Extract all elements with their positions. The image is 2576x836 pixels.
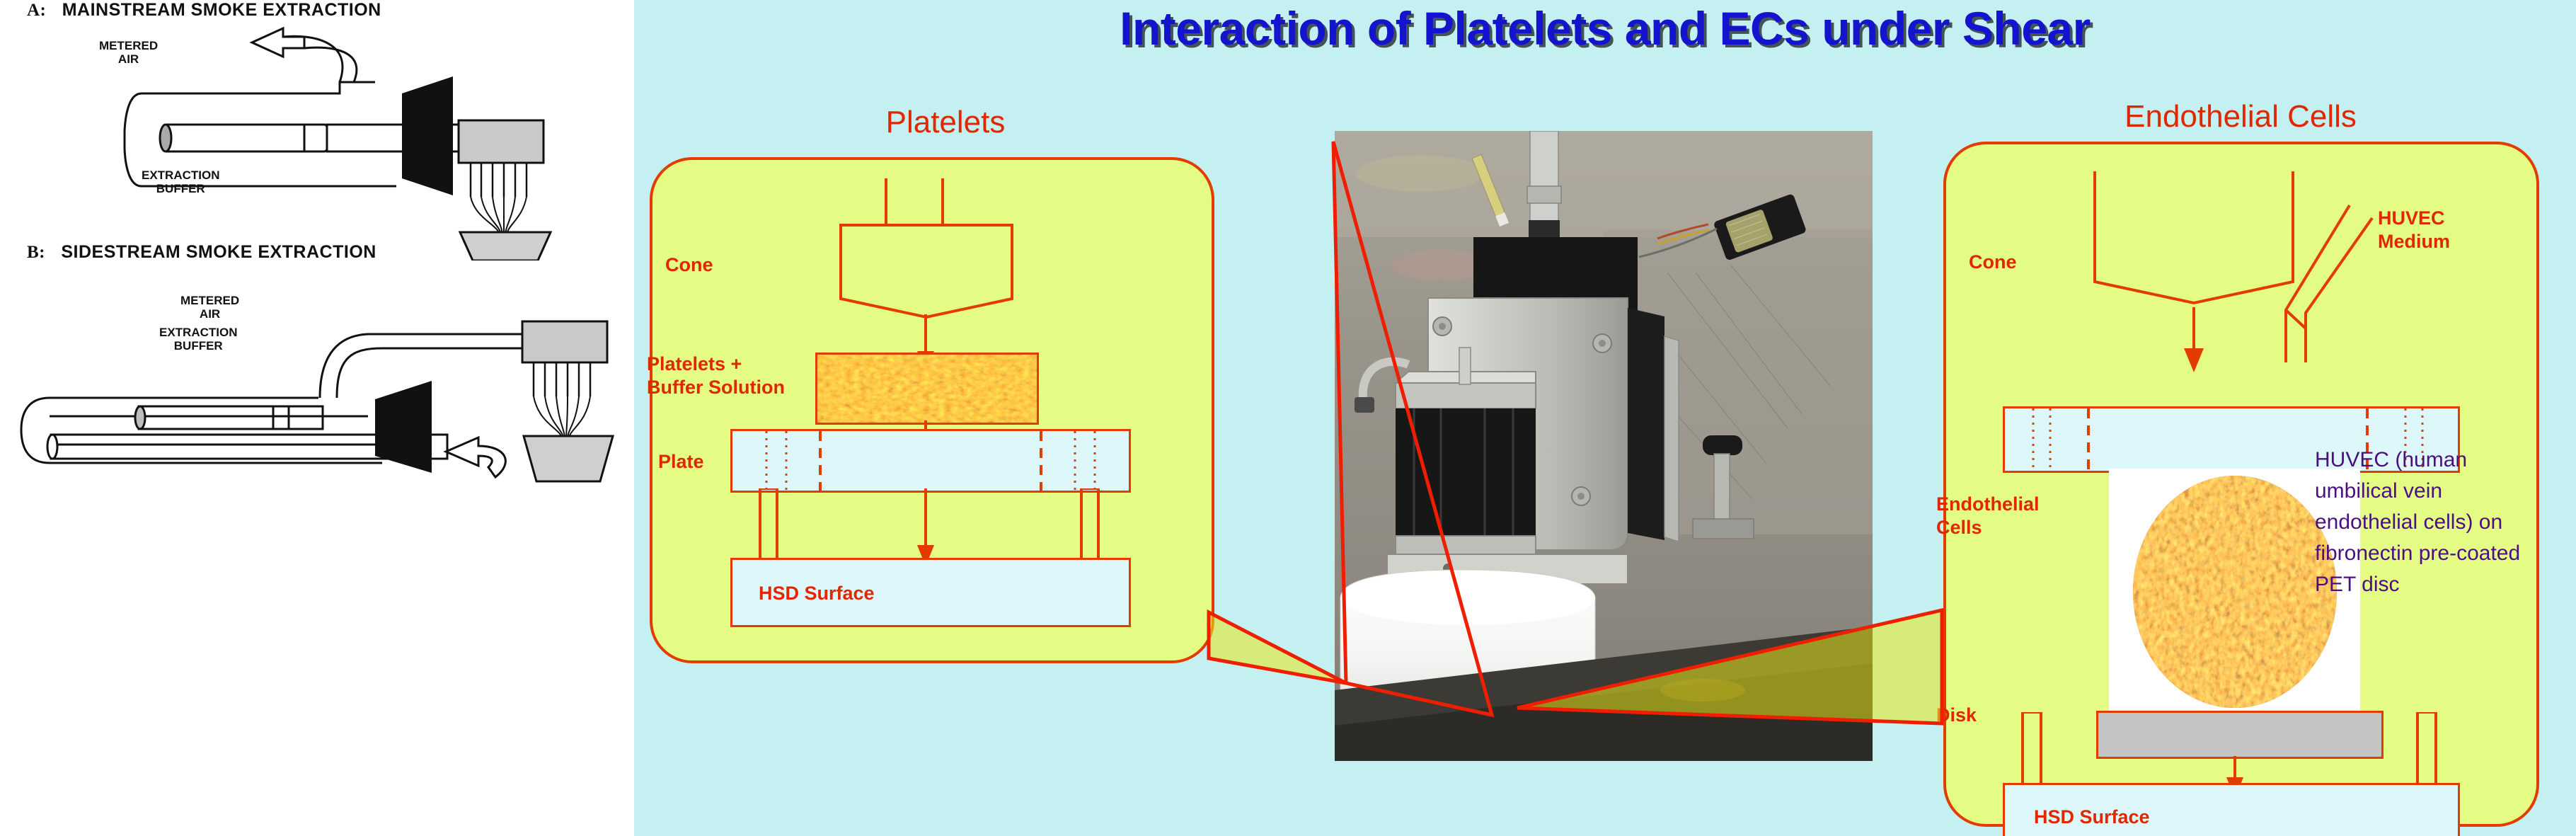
page-title: Interaction of Platelets and ECs under S…: [634, 1, 2576, 55]
cone-shape-ec: [2052, 171, 2392, 405]
figure-a-title: MAINSTREAM SMOKE EXTRACTION: [62, 0, 381, 20]
figure-a-caption: A: MAINSTREAM SMOKE EXTRACTION: [27, 0, 381, 21]
platelets-heading: Platelets: [634, 105, 1257, 140]
extraction-buffer-label-b: EXTRACTION BUFFER: [159, 326, 238, 353]
ec-heading: Endothelial Cells: [1929, 99, 2552, 134]
left-figure-panel: A: MAINSTREAM SMOKE EXTRACTION: [0, 0, 634, 836]
cone-shape-platelets: [808, 178, 1042, 320]
figure-b-caption: B: SIDESTREAM SMOKE EXTRACTION: [27, 242, 376, 263]
platelets-cone-label: Cone: [665, 253, 713, 277]
ec-cells-label: Endothelial Cells: [1936, 493, 2040, 539]
plate-legs-platelets: [730, 488, 1127, 566]
hsd-surface-label-platelets: HSD Surface: [759, 582, 875, 605]
platelets-solution-label: Platelets + Buffer Solution: [647, 353, 785, 399]
metered-air-label-b: METERED AIR: [180, 294, 239, 321]
mainstream-extraction-diagram: [0, 20, 634, 260]
shear-apparatus-photo: [1335, 131, 1873, 761]
figure-a-letter: A:: [27, 1, 46, 20]
extraction-buffer-label-a: EXTRACTION BUFFER: [142, 168, 220, 195]
plate-box: [730, 429, 1131, 493]
callout-triangle-left: [1209, 612, 1346, 683]
figure-b-letter: B:: [27, 243, 45, 262]
hsd-surface-label-ec: HSD Surface: [2034, 806, 2150, 829]
platelets-plate-label: Plate: [658, 450, 704, 474]
metered-air-label-a: METERED AIR: [99, 39, 158, 66]
main-slide: Interaction of Platelets and ECs under S…: [634, 0, 2576, 836]
sidestream-extraction-diagram: [0, 277, 634, 554]
ec-cone-label: Cone: [1969, 251, 2017, 274]
platelet-micrograph: [815, 353, 1039, 425]
huvec-annotation: HUVEC (human umbilical vein endothelial …: [2315, 445, 2527, 600]
figure-b-title: SIDESTREAM SMOKE EXTRACTION: [61, 242, 376, 262]
slide-stage: A: MAINSTREAM SMOKE EXTRACTION: [0, 0, 2576, 836]
platelets-panel: Cone Platelets + Buffer Solution: [650, 157, 1214, 663]
ec-disk-label: Disk: [1936, 704, 1977, 727]
